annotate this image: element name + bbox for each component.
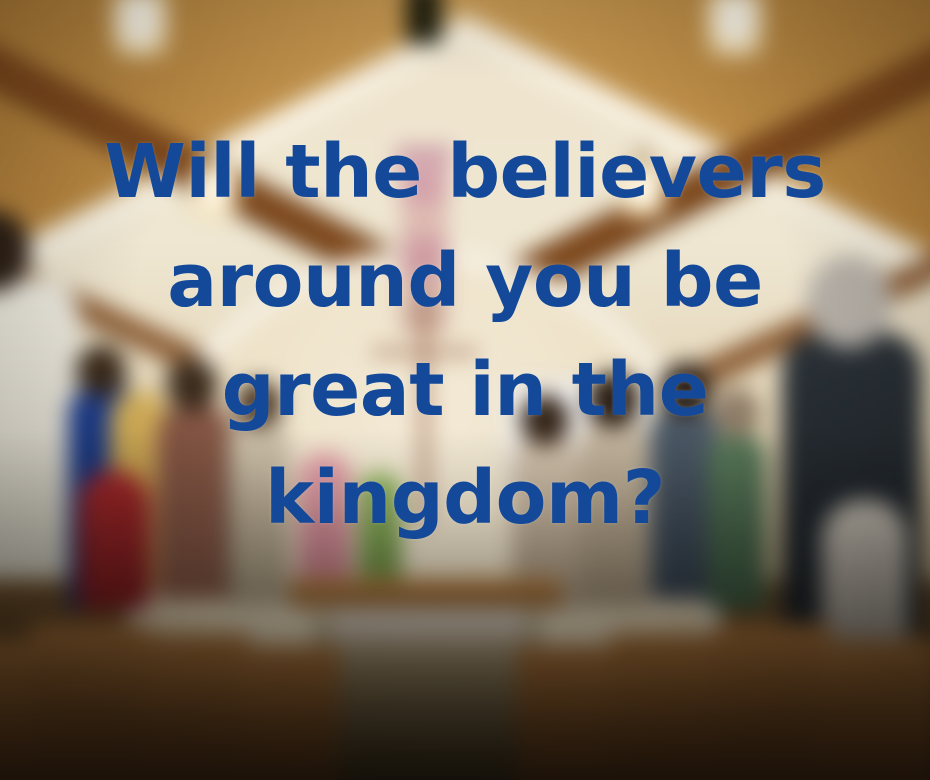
- quote-overlay: Will the believers around you be great i…: [0, 0, 930, 780]
- quote-text: Will the believers around you be great i…: [85, 118, 845, 553]
- quote-image-canvas: Will the believers around you be great i…: [0, 0, 930, 780]
